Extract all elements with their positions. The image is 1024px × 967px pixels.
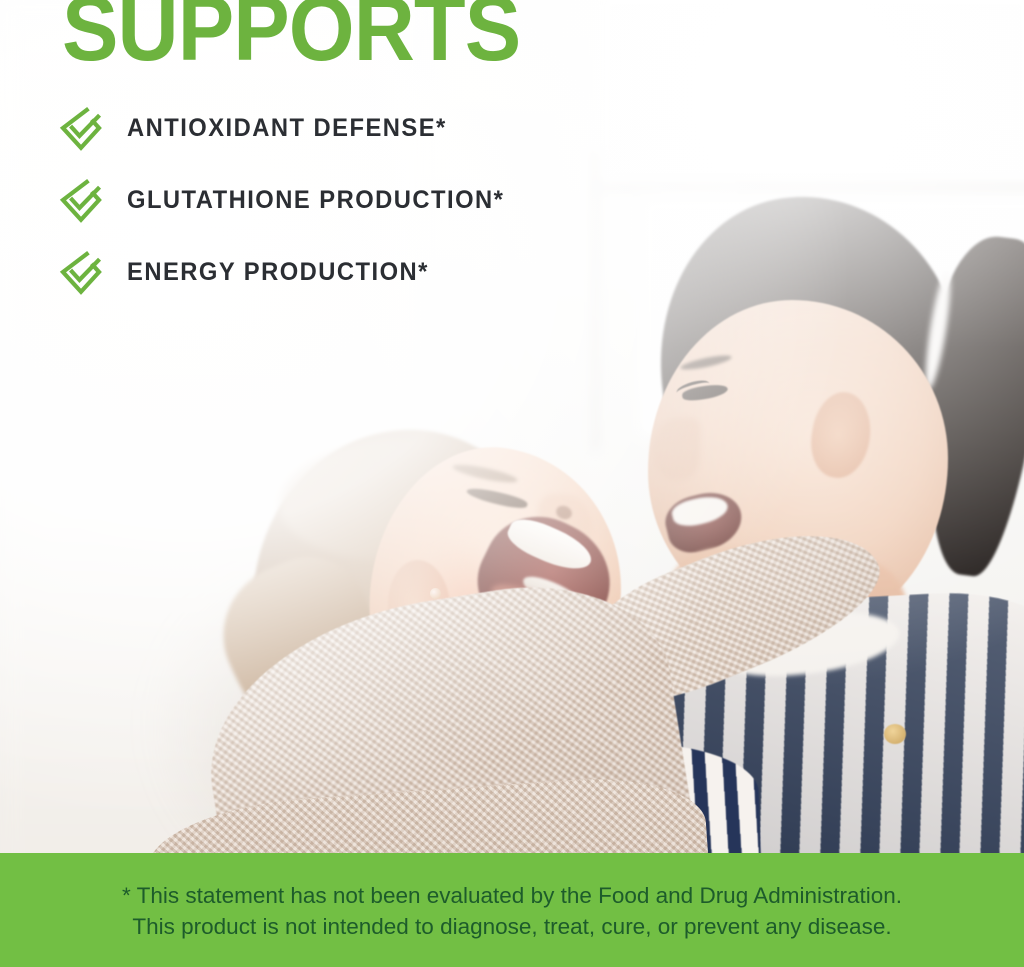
list-item: GLUTATHIONE PRODUCTION*: [58, 164, 524, 236]
diamond-check-icon: [58, 177, 104, 223]
product-benefits-panel: SUPPORTS ANTIOXIDANT DEFENSE*: [0, 0, 1024, 967]
page-title: SUPPORTS: [62, 0, 520, 75]
benefit-label: ANTIOXIDANT DEFENSE*: [127, 114, 447, 143]
diamond-check-icon: [58, 249, 104, 295]
benefit-label: GLUTATHIONE PRODUCTION*: [127, 186, 504, 215]
benefits-list: ANTIOXIDANT DEFENSE* GLUTATHIONE PRODUCT…: [58, 92, 524, 308]
disclaimer-line-2: This product is not intended to diagnose…: [132, 911, 891, 942]
list-item: ENERGY PRODUCTION*: [58, 236, 524, 308]
diamond-check-icon: [58, 105, 104, 151]
list-item: ANTIOXIDANT DEFENSE*: [58, 92, 524, 164]
fda-disclaimer-banner: * This statement has not been evaluated …: [0, 853, 1024, 967]
content-overlay: SUPPORTS ANTIOXIDANT DEFENSE*: [0, 0, 1024, 967]
disclaimer-line-1: * This statement has not been evaluated …: [122, 880, 902, 911]
benefit-label: ENERGY PRODUCTION*: [127, 258, 429, 287]
